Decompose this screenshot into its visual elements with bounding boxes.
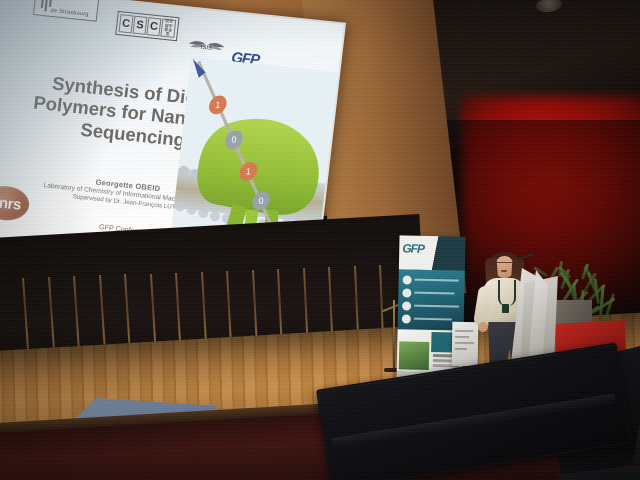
glasses-icon — [496, 262, 513, 267]
csc-logo: C S C 国家留学基金委 — [115, 11, 179, 41]
unistra-logo: Université de Strasbourg — [33, 0, 100, 22]
banner-gfp-logo: GFP — [402, 241, 424, 255]
svg-text:ISIS: ISIS — [200, 45, 212, 52]
csc-logo-cjk: 国家留学基金委 — [160, 19, 176, 38]
winged-institute-logo: ISIS — [186, 34, 228, 56]
csc-letter: C — [119, 14, 134, 33]
monitor-bezel-strip — [332, 393, 616, 448]
csc-letter: S — [132, 16, 147, 35]
lectern-microphone — [516, 256, 538, 270]
mic-pole — [393, 300, 395, 370]
confidence-monitor — [316, 368, 640, 480]
presenter-hand — [478, 322, 488, 332]
conference-photo: Université de Strasbourg C S C 国家留学基金委 — [0, 0, 640, 480]
banner-photo — [399, 341, 430, 370]
csc-letter: C — [146, 17, 161, 36]
unistra-logo-bottom: de Strasbourg — [50, 8, 89, 18]
